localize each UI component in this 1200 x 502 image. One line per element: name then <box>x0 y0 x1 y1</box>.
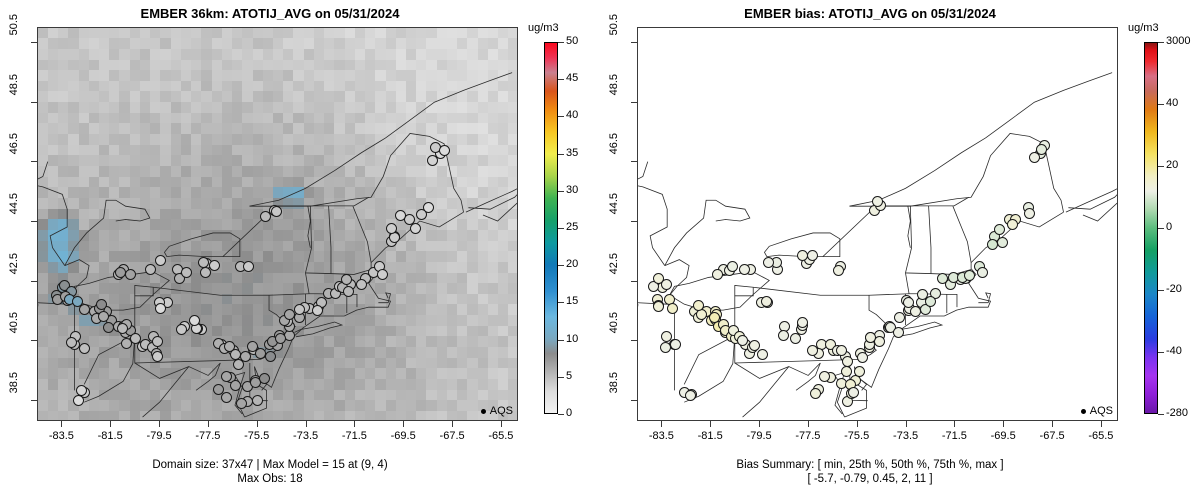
map-boundary-line <box>135 285 153 295</box>
legend-aqs-bias: AQS <box>1081 405 1113 417</box>
aqs-station-marker <box>854 366 865 377</box>
map-boundary-line <box>908 206 910 248</box>
x-tick-mark <box>306 421 307 427</box>
x-tick-mark <box>110 421 111 427</box>
aqs-station-marker <box>73 395 84 406</box>
x-tick-label: -71.5 <box>928 430 980 442</box>
aqs-station-marker <box>841 366 852 377</box>
x-tick-label: -77.5 <box>782 430 834 442</box>
x-tick-mark <box>403 421 404 427</box>
map-boundary-line <box>929 206 931 274</box>
aqs-station-marker <box>1024 208 1035 219</box>
aqs-station-marker <box>66 337 77 348</box>
map-boundary-line <box>638 162 648 184</box>
y-tick-mark <box>631 221 637 222</box>
map-boundary-line <box>483 171 517 221</box>
panel-bias: EMBER bias: ATOTIJ_AVG on 05/31/2024 AQS… <box>600 0 1200 502</box>
colorbar-tick-mark <box>558 116 564 117</box>
map-boundary-line <box>735 363 821 378</box>
x-tick-label: -75.5 <box>231 430 283 442</box>
map-boundary-line <box>38 184 67 266</box>
x-tick-mark <box>954 421 955 427</box>
aqs-station-marker <box>386 223 397 234</box>
panel-model: EMBER 36km: ATOTIJ_AVG on 05/31/2024 AQS… <box>0 0 600 502</box>
y-tick-mark <box>631 281 637 282</box>
x-tick-label: -79.5 <box>733 430 785 442</box>
colorbar-tick-label: 15 <box>566 295 578 307</box>
map-boundary-line <box>164 233 239 257</box>
colorbar-unit-label: ug/m3 <box>528 22 559 34</box>
colorbar-tick-mark <box>558 340 564 341</box>
colorbar-tick-mark <box>558 154 564 155</box>
caption-model-line1: Domain size: 37x47 | Max Model = 15 at (… <box>0 458 540 472</box>
legend-label-bias: AQS <box>1090 405 1113 417</box>
y-tick-mark <box>631 42 637 43</box>
colorbar-tick-label: 10 <box>566 333 578 345</box>
x-tick-label: -67.5 <box>1026 430 1078 442</box>
y-tick-label: 48.5 <box>608 74 620 126</box>
plot-area-model: AQS <box>37 27 518 421</box>
y-tick-mark <box>631 161 637 162</box>
aqs-station-marker <box>200 267 211 278</box>
aqs-station-marker <box>833 265 844 276</box>
y-tick-label: 42.5 <box>608 253 620 305</box>
colorbar-tick-label: 30 <box>566 184 578 196</box>
aqs-station-marker <box>265 351 276 362</box>
y-tick-label: 38.5 <box>8 372 20 424</box>
colorbar-tick-mark <box>1158 228 1164 229</box>
map-boundary-line <box>978 293 990 303</box>
y-tick-mark <box>31 42 37 43</box>
x-tick-label: -75.5 <box>831 430 883 442</box>
x-tick-mark <box>1101 421 1102 427</box>
map-boundary-line <box>665 200 750 265</box>
aqs-station-marker <box>1007 219 1018 230</box>
colorbar-tick-mark <box>558 79 564 80</box>
y-tick-label: 40.5 <box>8 312 20 364</box>
colorbar-tick-mark <box>558 302 564 303</box>
aqs-station-marker <box>925 296 936 307</box>
colorbar-tick-mark <box>1158 414 1164 415</box>
x-tick-label: -73.5 <box>280 430 332 442</box>
aqs-dot-icon <box>481 409 486 414</box>
x-tick-label: -65.5 <box>475 430 527 442</box>
plot-area-bias: AQS <box>637 27 1118 421</box>
y-tick-mark <box>631 340 637 341</box>
y-tick-mark <box>31 281 37 282</box>
aqs-station-marker <box>243 261 254 272</box>
x-tick-label: -81.5 <box>684 430 736 442</box>
colorbar-tick-label: 0 <box>1166 221 1172 233</box>
colorbar-tick-label: 20 <box>1166 159 1178 171</box>
colorbar-tick-label: 0 <box>566 407 572 419</box>
x-tick-label: -83.5 <box>35 430 87 442</box>
colorbar-tick-label: 25 <box>566 221 578 233</box>
aqs-station-marker <box>977 267 988 278</box>
map-boundary-line <box>735 285 753 295</box>
aqs-station-marker <box>410 223 421 234</box>
map-boundary-line <box>850 73 1113 207</box>
colorbar-tick-mark <box>1158 166 1164 167</box>
map-boundary-line <box>1066 182 1117 212</box>
colorbar-tick-label: -40 <box>1166 345 1182 357</box>
x-tick-label: -73.5 <box>880 430 932 442</box>
caption-bias-line1: Bias Summary: [ min, 25th %, 50th %, 75t… <box>600 458 1140 472</box>
aqs-station-marker <box>230 349 241 360</box>
map-boundary-line <box>378 293 390 303</box>
y-tick-mark <box>31 102 37 103</box>
map-boundary-line <box>65 200 150 265</box>
x-tick-label: -79.5 <box>133 430 185 442</box>
x-tick-mark <box>857 421 858 427</box>
map-boundary-line <box>245 212 464 417</box>
aqs-station-marker <box>79 343 90 354</box>
aqs-station-marker <box>667 303 678 314</box>
aqs-station-marker <box>807 345 818 356</box>
aqs-station-marker <box>790 333 801 344</box>
map-boundary-line <box>1083 171 1117 221</box>
map-boundary-line <box>143 367 189 417</box>
x-tick-label: -67.5 <box>426 430 478 442</box>
x-tick-label: -77.5 <box>182 430 234 442</box>
map-boundary-line <box>235 372 245 417</box>
x-tick-mark <box>501 421 502 427</box>
aqs-station-marker <box>797 317 808 328</box>
aqs-station-marker <box>712 269 723 280</box>
colorbar-tick-label: 5 <box>566 370 572 382</box>
colorbar-gradient <box>544 42 558 414</box>
aqs-station-marker <box>848 387 859 398</box>
map-boundary-line <box>153 287 309 295</box>
caption-bias-line2: [ -5.7, -0.79, 0.45, 2, 11 ] <box>600 472 1140 486</box>
y-tick-label: 40.5 <box>608 312 620 364</box>
map-boundary-line <box>953 206 971 262</box>
map-boundary-line <box>295 322 342 337</box>
panel-title-bias: EMBER bias: ATOTIJ_AVG on 05/31/2024 <box>600 6 1140 21</box>
x-tick-mark <box>257 421 258 427</box>
x-tick-label: -69.5 <box>977 430 1029 442</box>
map-boundary-line <box>38 162 48 184</box>
map-boundary-line <box>329 206 331 274</box>
y-tick-mark <box>31 340 37 341</box>
colorbar-gradient <box>1144 42 1158 414</box>
aqs-station-marker <box>121 338 132 349</box>
colorbar-tick-mark <box>558 42 564 43</box>
y-tick-label: 44.5 <box>8 193 20 245</box>
map-boundary-line <box>665 260 689 296</box>
aqs-station-marker <box>155 303 166 314</box>
y-tick-label: 50.5 <box>608 14 620 66</box>
legend-label-model: AQS <box>490 405 513 417</box>
aqs-station-marker <box>221 392 232 403</box>
aqs-station-marker <box>152 351 163 362</box>
map-boundary-line <box>743 367 789 417</box>
x-tick-mark <box>1052 421 1053 427</box>
x-tick-mark <box>661 421 662 427</box>
x-tick-mark <box>208 421 209 427</box>
colorbar-tick-mark <box>558 228 564 229</box>
y-tick-mark <box>31 221 37 222</box>
aqs-station-marker <box>797 250 808 261</box>
colorbar-tick-mark <box>558 191 564 192</box>
map-boundary-line <box>250 73 513 207</box>
y-tick-mark <box>631 400 637 401</box>
aqs-station-marker <box>236 398 247 409</box>
x-tick-label: -69.5 <box>377 430 429 442</box>
aqs-station-marker <box>893 327 904 338</box>
x-tick-mark <box>452 421 453 427</box>
map-boundary-line <box>684 336 735 385</box>
aqs-station-marker <box>221 371 232 382</box>
colorbar-tick-label: 35 <box>566 147 578 159</box>
colorbar-tick-label: 20 <box>566 258 578 270</box>
aqs-dot-icon <box>1081 409 1086 414</box>
x-tick-mark <box>354 421 355 427</box>
colorbar-tick-mark <box>1158 352 1164 353</box>
aqs-station-marker <box>778 330 789 341</box>
map-outlines-model <box>38 28 517 420</box>
y-tick-label: 50.5 <box>8 14 20 66</box>
y-tick-label: 46.5 <box>8 133 20 185</box>
colorbar-tick-mark <box>558 414 564 415</box>
map-boundary-line <box>135 363 221 378</box>
colorbar-tick-label: 50 <box>566 35 578 47</box>
y-tick-mark <box>631 102 637 103</box>
map-outlines-bias <box>638 28 1117 420</box>
colorbar-tick-label: 40 <box>1166 97 1178 109</box>
colorbar-tick-label: 45 <box>566 72 578 84</box>
y-tick-label: 46.5 <box>608 133 620 185</box>
x-tick-mark <box>1003 421 1004 427</box>
aqs-station-marker <box>312 305 323 316</box>
map-boundary-line <box>753 287 909 295</box>
aqs-station-marker <box>115 267 126 278</box>
map-boundary-line <box>353 206 371 262</box>
map-boundary-line <box>638 184 667 266</box>
map-boundary-line <box>466 182 517 212</box>
x-tick-label: -71.5 <box>328 430 380 442</box>
x-tick-mark <box>906 421 907 427</box>
panel-title-model: EMBER 36km: ATOTIJ_AVG on 05/31/2024 <box>0 6 540 21</box>
x-tick-mark <box>759 421 760 427</box>
x-tick-mark <box>710 421 711 427</box>
aqs-station-marker <box>395 210 406 221</box>
aqs-station-marker <box>98 311 109 322</box>
aqs-station-marker <box>693 300 704 311</box>
map-boundary-line <box>823 206 912 294</box>
y-tick-mark <box>31 400 37 401</box>
colorbar-tick-mark <box>1158 290 1164 291</box>
colorbar-tick-label: 3000 <box>1166 35 1190 47</box>
y-tick-label: 44.5 <box>608 193 620 245</box>
aqs-station-marker <box>964 270 975 281</box>
aqs-station-marker <box>997 237 1008 248</box>
map-boundary-line <box>308 206 310 248</box>
aqs-station-marker <box>661 331 672 342</box>
x-tick-label: -65.5 <box>1075 430 1127 442</box>
colorbar-tick-label: -20 <box>1166 283 1182 295</box>
caption-model-line2: Max Obs: 18 <box>0 472 540 486</box>
map-boundary-line <box>845 212 1064 417</box>
y-tick-label: 48.5 <box>8 74 20 126</box>
x-tick-mark <box>61 421 62 427</box>
colorbar-tick-mark <box>1158 42 1164 43</box>
colorbar-tick-label: 40 <box>566 109 578 121</box>
colorbar-tick-mark <box>558 265 564 266</box>
aqs-station-marker <box>189 315 200 326</box>
legend-aqs-model: AQS <box>481 405 513 417</box>
aqs-station-marker <box>727 261 738 272</box>
aqs-station-marker <box>271 206 282 217</box>
figure-canvas: EMBER 36km: ATOTIJ_AVG on 05/31/2024 AQS… <box>0 0 1200 502</box>
colorbar-tick-label: -280 <box>1166 407 1188 419</box>
y-tick-mark <box>31 161 37 162</box>
colorbar-tick-mark <box>558 377 564 378</box>
y-tick-label: 42.5 <box>8 253 20 305</box>
x-tick-label: -83.5 <box>635 430 687 442</box>
aqs-station-marker <box>836 345 847 356</box>
colorbar-unit-label: ug/m3 <box>1128 22 1159 34</box>
x-tick-mark <box>159 421 160 427</box>
aqs-station-marker <box>685 390 696 401</box>
x-tick-mark <box>808 421 809 427</box>
colorbar-tick-mark <box>1158 104 1164 105</box>
x-tick-label: -81.5 <box>84 430 136 442</box>
y-tick-label: 38.5 <box>608 372 620 424</box>
